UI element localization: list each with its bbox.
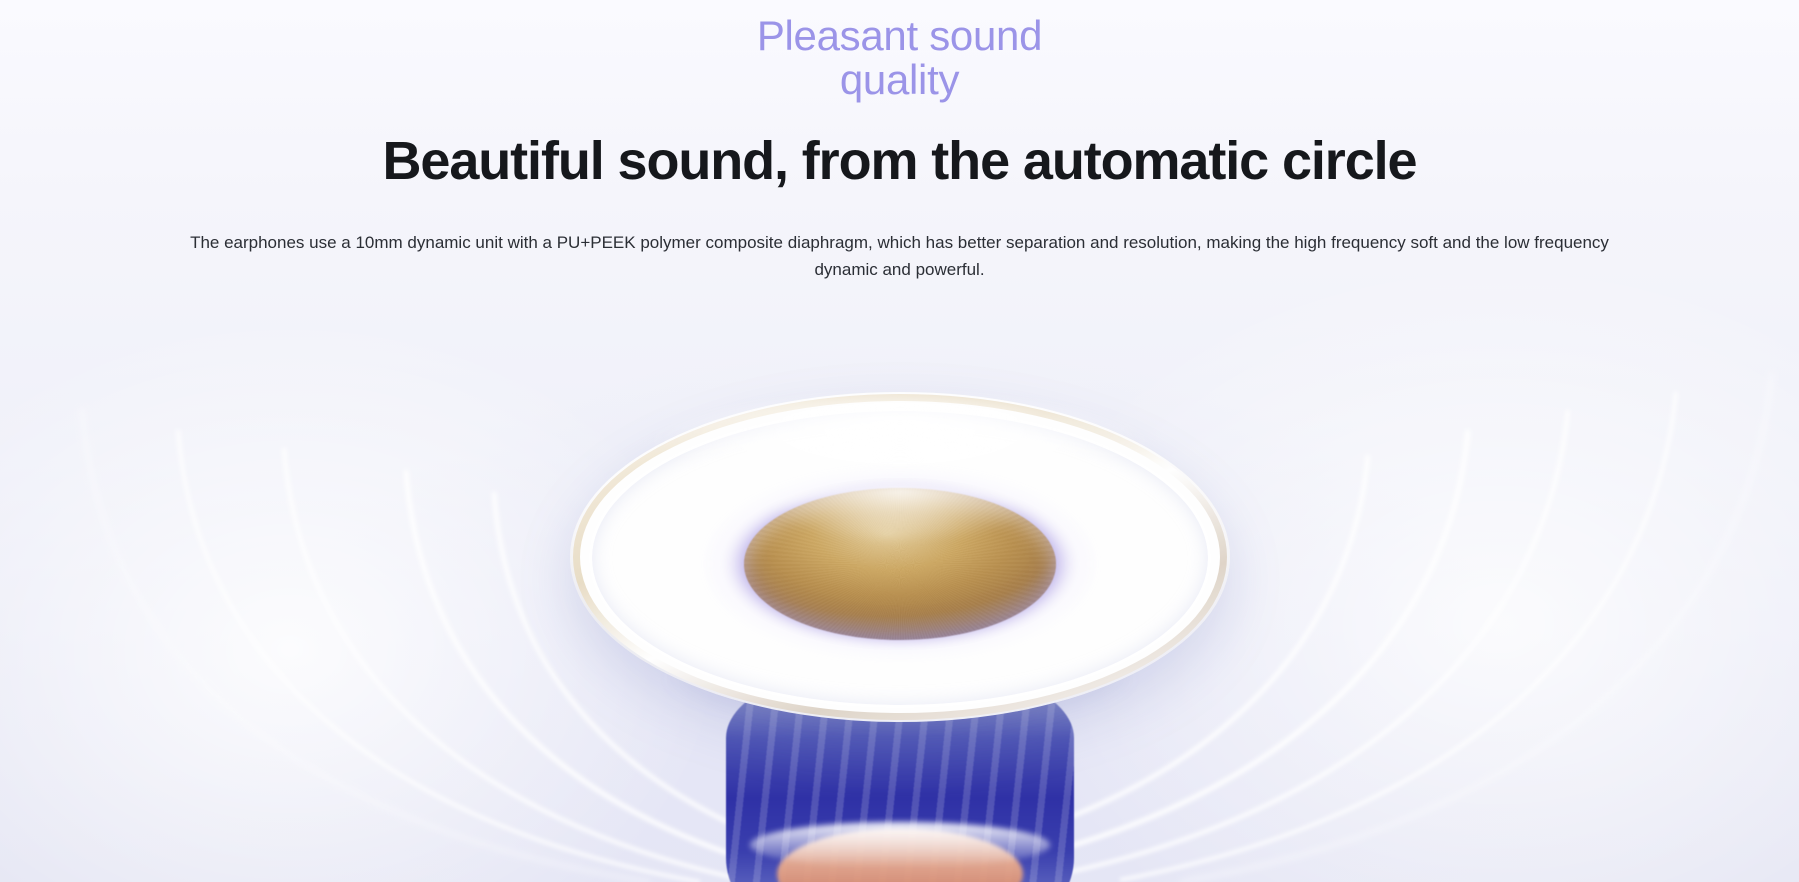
voice-coil-sheen: [750, 822, 1050, 868]
section-body-text: The earphones use a 10mm dynamic unit wi…: [160, 229, 1640, 284]
section-eyebrow: Pleasant sound quality: [750, 14, 1050, 102]
dome-highlight: [750, 484, 1050, 544]
product-feature-section: Pleasant sound quality Beautiful sound, …: [0, 0, 1799, 882]
section-copy: Pleasant sound quality Beautiful sound, …: [0, 0, 1799, 284]
section-headline: Beautiful sound, from the automatic circ…: [0, 132, 1799, 190]
driver-product-image: [570, 392, 1230, 882]
